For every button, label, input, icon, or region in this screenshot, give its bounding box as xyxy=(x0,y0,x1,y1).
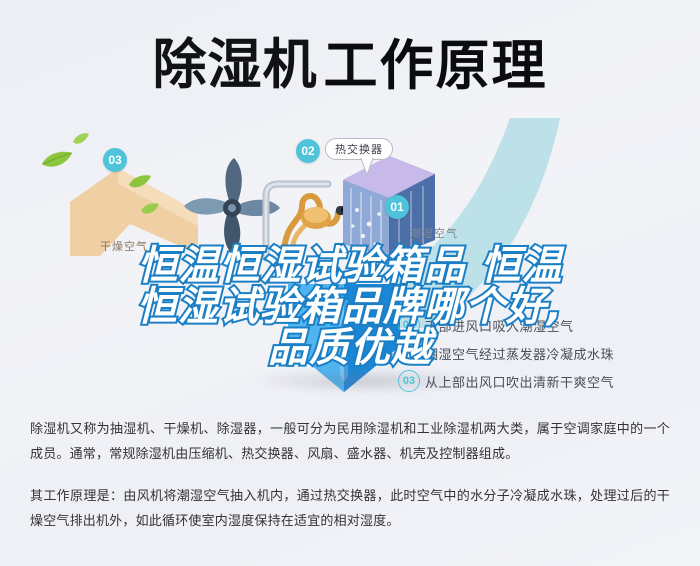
dehumidifier-diagram: 干燥空气 xyxy=(0,110,700,410)
body-paragraph-1: 除湿机又称为抽湿机、干燥机、除湿器，一般可分为民用除湿机和工业除湿机两大类，属于… xyxy=(30,416,670,467)
leaf-icon xyxy=(128,174,152,195)
badge-step-03: 03 xyxy=(103,148,127,172)
badge-step-01: 01 xyxy=(385,195,409,219)
humid-air-label: 潮湿空气 xyxy=(410,225,458,241)
leaf-icon xyxy=(140,202,160,221)
legend-number-02: 02 xyxy=(398,342,420,364)
legend-item-03: 03 从上部出风口吹出清新干爽空气 xyxy=(398,370,614,392)
water-tank-label: 水箱 xyxy=(327,335,351,351)
heat-exchanger-callout: 热交换器 xyxy=(325,138,393,160)
body-copy: 除湿机又称为抽湿机、干燥机、除湿器，一般可分为民用除湿机和工业除湿机两大类，属于… xyxy=(0,416,700,549)
page-title-part-a: 除湿机 xyxy=(153,38,318,92)
badge-step-02: 02 xyxy=(296,139,320,163)
dry-air-label: 干燥空气 xyxy=(100,238,148,254)
page-title-part-b: 工作原理 xyxy=(324,38,548,92)
legend-text-03: 从上部出风口吹出清新干爽空气 xyxy=(425,372,614,391)
legend-item-02: 02 潮湿空气经过蒸发器冷凝成水珠 xyxy=(398,342,614,364)
infographic-page: 除湿机 工作原理 干燥空气 xyxy=(0,0,700,566)
leaf-icon xyxy=(40,150,74,175)
legend-text-02: 潮湿空气经过蒸发器冷凝成水珠 xyxy=(425,344,614,363)
page-title: 除湿机 工作原理 xyxy=(0,26,700,104)
legend-text-01: 下部进风口吸入潮湿空气 xyxy=(425,316,574,335)
leaf-icon xyxy=(72,132,90,151)
legend-number-03: 03 xyxy=(398,370,420,392)
body-paragraph-2: 其工作原理是：由风机将潮湿空气抽入机内，通过热交换器，此时空气中的水分子冷凝成水… xyxy=(30,483,670,534)
legend-number-01: 01 xyxy=(398,314,420,336)
callout-tail-icon xyxy=(360,158,374,176)
legend-item-01: 01 下部进风口吸入潮湿空气 xyxy=(398,314,574,336)
